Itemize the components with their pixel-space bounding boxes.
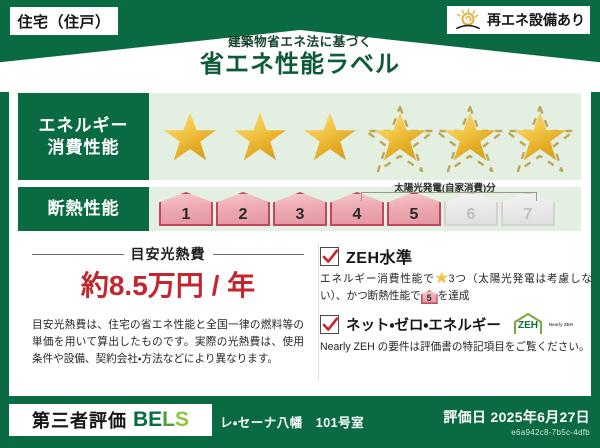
energy-star-solar	[505, 100, 575, 174]
property-name: レ・セーナ八幡 101号室	[220, 412, 364, 431]
third-party-eval-label: 第三者評価	[32, 407, 127, 433]
evaluation-date-value: 2025年6月27日	[490, 409, 590, 425]
insulation-level-filled: 1	[159, 192, 213, 226]
insulation-level-filled: 2	[216, 192, 270, 226]
energy-label-line2: 消費性能	[48, 137, 120, 158]
title-subtitle: 建築物省エネ法に基づく	[0, 36, 600, 50]
check-head-zeh-standard: ZEH水準	[320, 244, 592, 268]
utility-cost-value: 約8.5万円 / 年	[32, 271, 304, 302]
bels-badge: 第三者評価 BELS	[9, 404, 212, 436]
zeh-body-part1: エネルギー消費性能で	[320, 273, 435, 285]
insulation-level-number: 3	[296, 207, 305, 223]
utility-cost-heading-text: 目安光熱費	[131, 244, 206, 264]
energy-star-filled	[155, 100, 225, 174]
star-icon	[163, 112, 217, 164]
zeh-logo-sub: Nearly ZEH	[549, 322, 573, 327]
certification-checks-panel: ZEH水準 エネルギー消費性能で3つ（太陽光発電は考慮しない）、かつ断熱性能で5…	[314, 238, 600, 388]
star-icon	[233, 112, 287, 164]
check-item-zeh-standard: ZEH水準 エネルギー消費性能で3つ（太陽光発電は考慮しない）、かつ断熱性能で5…	[320, 244, 592, 305]
check-head-net-zero-energy: ネット・ゼロ・エネルギー ZEH Nearly ZEH	[320, 312, 592, 336]
solar-bracket	[361, 192, 537, 201]
star-icon	[303, 112, 357, 164]
zeh-body-part3: を達成	[438, 290, 470, 302]
energy-star-filled	[295, 100, 365, 174]
inline-level-badge: 5	[421, 290, 438, 304]
insulation-level-number: 6	[467, 207, 476, 223]
page-title: 省エネ性能ラベル	[0, 51, 600, 79]
heading-rule-left	[32, 254, 124, 255]
svg-text:ZEH: ZEH	[518, 320, 538, 331]
bels-wordmark: BELS	[133, 408, 189, 432]
heading-rule-right	[213, 254, 305, 255]
utility-cost-heading: 目安光熱費	[32, 244, 304, 264]
insulation-level-number: 5	[410, 207, 419, 223]
renewable-equipment-label: 再エネ設備あり	[487, 10, 585, 30]
energy-star-filled	[225, 100, 295, 174]
energy-star-solar	[435, 100, 505, 174]
energy-performance-row: エネルギー 消費性能	[18, 93, 581, 180]
document-id: e6a942c8-7b5c-4dfb	[443, 428, 590, 437]
check-item-net-zero-energy: ネット・ゼロ・エネルギー ZEH Nearly ZEH Nearly ZEH の…	[320, 312, 592, 356]
label-title-block: 建築物省エネ法に基づく 省エネ性能ラベル	[0, 36, 600, 78]
inline-star-icon	[435, 271, 449, 284]
label-body-card: 太陽光発電(自家消費)分 エネルギー 消費性能 断熱性能 1234567	[9, 88, 591, 396]
housing-type-label: 住宅（住戸）	[17, 11, 110, 32]
insulation-level-number: 4	[353, 207, 362, 223]
label-footer: 第三者評価 BELS レ・セーナ八幡 101号室 評価日 2025年6月27日 …	[0, 400, 600, 448]
evaluation-date-block: 評価日 2025年6月27日 e6a942c8-7b5c-4dfb	[443, 407, 590, 437]
renewable-equipment-pill: 再エネ設備あり	[446, 5, 591, 35]
check-title-zeh-standard: ZEH水準	[346, 244, 413, 268]
insulation-level-filled: 3	[273, 192, 327, 226]
checkbox-checked-icon	[320, 315, 339, 334]
insulation-level-number: 2	[239, 207, 248, 223]
energy-star-solar	[365, 100, 435, 174]
evaluation-date-label: 評価日	[443, 409, 486, 425]
insulation-label-text: 断熱性能	[48, 198, 120, 219]
energy-performance-label: エネルギー 消費性能	[18, 93, 149, 180]
check-title-net-zero-energy: ネット・ゼロ・エネルギー	[346, 314, 501, 335]
checkbox-checked-icon	[320, 247, 339, 266]
energy-performance-label: 住宅（住戸） 再エネ設備あり 建築物省エネ法に基づく 省エネ性能ラベル	[0, 0, 600, 448]
zeh-logo: ZEH Nearly ZEH	[511, 312, 573, 336]
check-body-net-zero-energy: Nearly ZEH の要件は評価書の特記項目をご覧ください。	[320, 339, 592, 356]
sun-solar-icon	[454, 8, 482, 32]
evaluation-date: 評価日 2025年6月27日	[443, 407, 590, 427]
check-body-zeh-standard: エネルギー消費性能で3つ（太陽光発電は考慮しない）、かつ断熱性能で5を達成	[320, 271, 592, 305]
utility-cost-note: 目安光熱費は、住宅の省エネ性能と全国一律の燃料等の単価を用いて算出したものです。…	[32, 317, 304, 368]
energy-star-track	[149, 93, 581, 180]
housing-type-pill: 住宅（住戸）	[9, 6, 119, 36]
energy-label-line1: エネルギー	[39, 115, 129, 136]
insulation-level-number: 7	[524, 207, 533, 223]
insulation-level-number: 1	[182, 207, 191, 223]
utility-cost-panel: 目安光熱費 約8.5万円 / 年 目安光熱費は、住宅の省エネ性能と全国一律の燃料…	[18, 238, 314, 388]
insulation-performance-label: 断熱性能	[18, 187, 149, 231]
lower-section: 目安光熱費 約8.5万円 / 年 目安光熱費は、住宅の省エネ性能と全国一律の燃料…	[18, 238, 600, 388]
